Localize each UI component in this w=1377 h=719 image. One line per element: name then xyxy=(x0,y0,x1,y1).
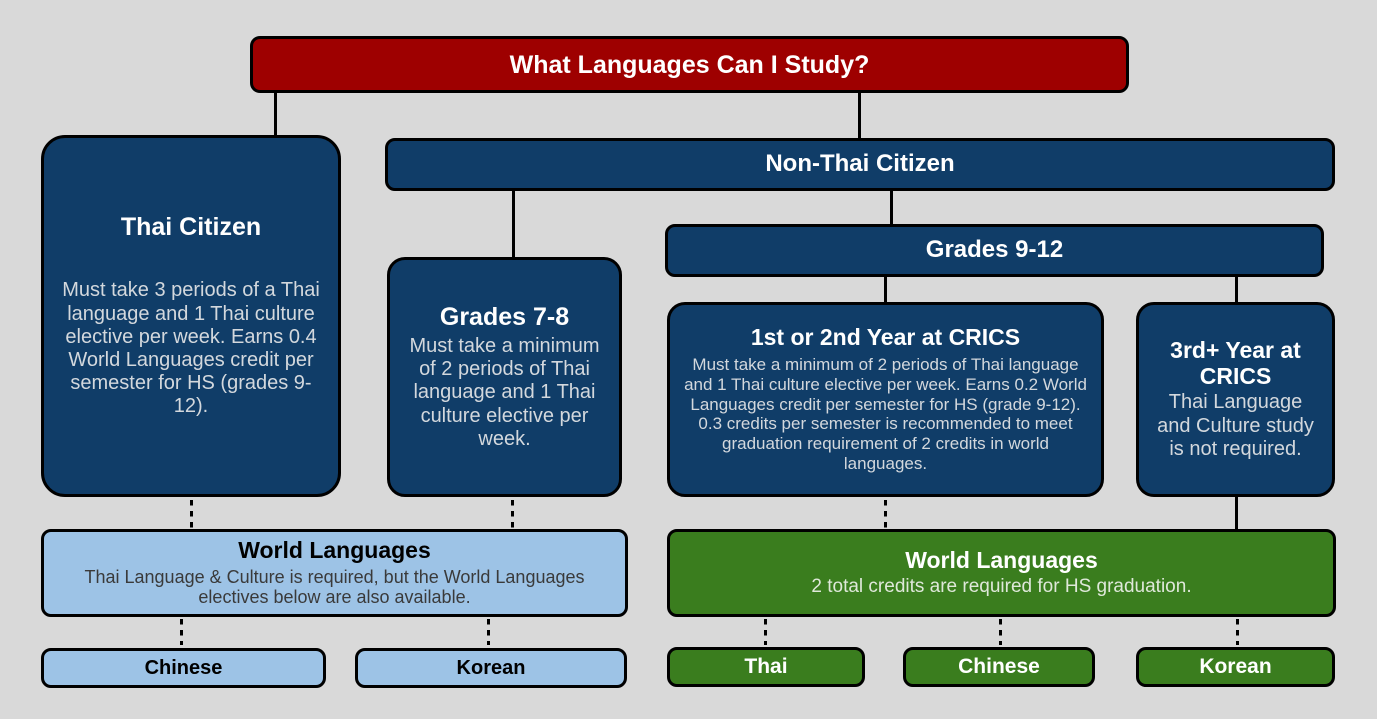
node-world-languages-green-title: World Languages xyxy=(905,548,1098,574)
chip-chinese-blue[interactable]: Chinese xyxy=(41,648,326,688)
node-grades-7-8[interactable]: Grades 7-8 Must take a minimum of 2 peri… xyxy=(387,257,622,497)
chip-thai-green[interactable]: Thai xyxy=(667,647,865,687)
chip-chinese-green-label: Chinese xyxy=(958,655,1040,679)
chip-thai-green-label: Thai xyxy=(744,655,787,679)
chip-korean-green-label: Korean xyxy=(1199,655,1271,679)
chip-chinese-green[interactable]: Chinese xyxy=(903,647,1095,687)
node-grades-7-8-body: Must take a minimum of 2 periods of Thai… xyxy=(404,335,605,451)
node-crics-first-second-year-body: Must take a minimum of 2 periods of Thai… xyxy=(684,355,1087,473)
node-world-languages-green-body: 2 total credits are required for HS grad… xyxy=(811,576,1191,598)
connector-world-languages-green-to-korean xyxy=(1236,619,1239,645)
connector-root-to-nonthai xyxy=(858,92,861,140)
chip-korean-green[interactable]: Korean xyxy=(1136,647,1335,687)
node-non-thai-citizen-title: Non-Thai Citizen xyxy=(765,151,954,178)
connector-world-languages-blue-to-korean xyxy=(487,619,490,645)
chip-chinese-blue-label: Chinese xyxy=(145,657,223,679)
node-crics-third-plus-year[interactable]: 3rd+ Year at CRICS Thai Language and Cul… xyxy=(1136,302,1335,497)
connector-grades912-to-crics3 xyxy=(1235,276,1238,302)
connector-grades78-to-world-languages-blue xyxy=(511,500,514,528)
node-root-question[interactable]: What Languages Can I Study? xyxy=(250,36,1129,93)
node-root-title: What Languages Can I Study? xyxy=(510,51,870,79)
node-grades-7-8-title: Grades 7-8 xyxy=(440,303,569,331)
node-world-languages-blue[interactable]: World Languages Thai Language & Culture … xyxy=(41,529,628,617)
node-world-languages-green[interactable]: World Languages 2 total credits are requ… xyxy=(667,529,1336,617)
node-crics-first-second-year-title: 1st or 2nd Year at CRICS xyxy=(751,325,1020,351)
node-world-languages-blue-body: Thai Language & Culture is required, but… xyxy=(58,567,611,609)
node-crics-third-plus-year-body: Thai Language and Culture study is not r… xyxy=(1151,391,1320,461)
node-world-languages-blue-title: World Languages xyxy=(238,538,431,564)
node-thai-citizen-title: Thai Citizen xyxy=(121,213,261,241)
node-crics-third-plus-year-title: 3rd+ Year at CRICS xyxy=(1151,338,1320,390)
connector-root-to-thai xyxy=(274,92,277,140)
chip-korean-blue[interactable]: Korean xyxy=(355,648,627,688)
connector-crics3-to-world-languages-green xyxy=(1235,494,1238,530)
node-grades-9-12-title: Grades 9-12 xyxy=(926,237,1063,264)
node-thai-citizen-body: Must take 3 periods of a Thai language a… xyxy=(60,279,322,418)
connector-thai-to-world-languages-blue xyxy=(190,500,193,528)
node-grades-9-12[interactable]: Grades 9-12 xyxy=(665,224,1324,277)
connector-world-languages-green-to-thai xyxy=(764,619,767,645)
node-thai-citizen[interactable]: Thai Citizen Must take 3 periods of a Th… xyxy=(41,135,341,497)
connector-nonthai-to-grades78 xyxy=(512,190,515,258)
connector-crics12-to-world-languages-green xyxy=(884,500,887,528)
connector-nonthai-to-grades912 xyxy=(890,190,893,226)
node-crics-first-second-year[interactable]: 1st or 2nd Year at CRICS Must take a min… xyxy=(667,302,1104,497)
connector-world-languages-green-to-chinese xyxy=(999,619,1002,645)
chip-korean-blue-label: Korean xyxy=(457,657,526,679)
connector-world-languages-blue-to-chinese xyxy=(180,619,183,645)
flowchart-canvas: What Languages Can I Study? Thai Citizen… xyxy=(0,0,1377,719)
node-non-thai-citizen[interactable]: Non-Thai Citizen xyxy=(385,138,1335,191)
connector-grades912-to-crics12 xyxy=(884,276,887,302)
